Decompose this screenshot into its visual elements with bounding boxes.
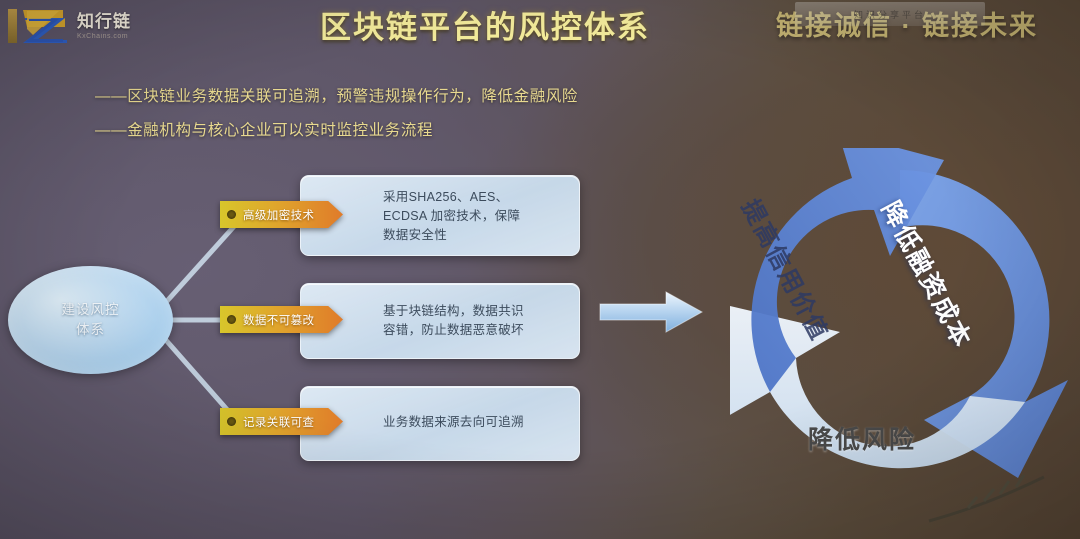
branch-tag[interactable]: 高级加密技术	[220, 201, 343, 228]
logo-text-en: KxChains.com	[77, 33, 131, 40]
tag-dot-icon	[227, 315, 236, 324]
bullet-item: ——金融机构与核心企业可以实时监控业务流程	[95, 118, 735, 140]
logo-bar-icon	[8, 9, 17, 43]
detail-card-text: 基于块链结构，数据共识 容错，防止数据恶意破坏	[383, 302, 524, 340]
detail-card-text: 业务数据来源去向可追溯	[383, 413, 524, 432]
decorative-branch-icon	[924, 463, 1074, 533]
bullet-list: ——区块链业务数据关联可追溯，预警违规操作行为，降低金融风险 ——金融机构与核心…	[95, 84, 735, 152]
right-arrow-icon	[598, 288, 708, 336]
tag-dot-icon	[227, 417, 236, 426]
cycle-label-bottom: 降低风险	[808, 420, 916, 456]
brand-logo: 知行链 KxChains.com	[8, 4, 173, 48]
risk-control-diagram: 建设风控 体系 采用SHA256、AES、 ECDSA 加密技术，保障 数据安全…	[0, 150, 600, 490]
diagram-root-label: 建设风控 体系	[62, 300, 120, 339]
watermark-banner: 知识分享平台	[795, 2, 985, 26]
z-logo-icon	[19, 7, 71, 45]
diagram-root-node[interactable]: 建设风控 体系	[8, 266, 173, 374]
tag-dot-icon	[227, 210, 236, 219]
branch-tag-label: 记录关联可查	[243, 414, 314, 430]
branch-tag[interactable]: 记录关联可查	[220, 408, 343, 435]
branch-tag[interactable]: 数据不可篡改	[220, 306, 343, 333]
slide-title: 区块链平台的风控体系	[285, 2, 685, 47]
branch-tag-label: 数据不可篡改	[243, 312, 314, 328]
logo-text-cn: 知行链	[77, 13, 131, 30]
bullet-item: ——区块链业务数据关联可追溯，预警违规操作行为，降低金融风险	[95, 84, 735, 106]
benefit-cycle-diagram: 降低融资成本 降低风险 提高信用价值	[730, 148, 1070, 493]
branch-tag-label: 高级加密技术	[243, 207, 314, 223]
detail-card-text: 采用SHA256、AES、 ECDSA 加密技术，保障 数据安全性	[383, 188, 520, 244]
